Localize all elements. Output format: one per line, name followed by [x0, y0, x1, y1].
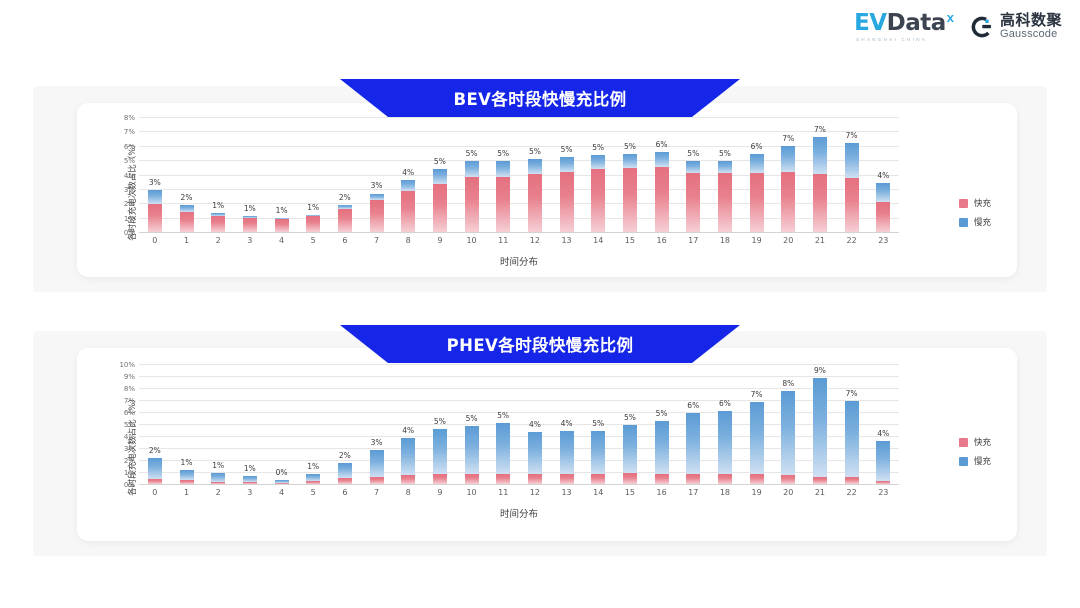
- bar-value-label: 2%: [149, 446, 161, 455]
- x-axis-tick: 14: [582, 236, 614, 245]
- bar-slot[interactable]: 5%: [551, 117, 583, 232]
- bar-value-label: 1%: [307, 203, 319, 212]
- stacked-bar[interactable]: [718, 411, 732, 484]
- x-axis-tick: 8: [392, 488, 424, 497]
- bar-segment-fast-charge[interactable]: [845, 477, 859, 484]
- stacked-bar[interactable]: [465, 161, 479, 232]
- evdata-logo: EV Data x SHANGHAI CHINA: [854, 12, 954, 42]
- bar-slot[interactable]: 3%: [139, 117, 171, 232]
- bar-segment-fast-charge[interactable]: [243, 218, 257, 232]
- bar-slot[interactable]: 5%: [614, 364, 646, 484]
- bar-value-label: 6%: [656, 140, 668, 149]
- bar-segment-fast-charge[interactable]: [306, 216, 320, 232]
- stacked-bar[interactable]: [876, 441, 890, 484]
- bar-value-label: 5%: [497, 149, 509, 158]
- bar-segment-fast-charge[interactable]: [718, 474, 732, 484]
- bar-segment-slow-charge[interactable]: [813, 378, 827, 477]
- legend-label: 慢充: [974, 455, 991, 467]
- x-axis: 01234567891011121314151617181920212223: [139, 236, 899, 245]
- stacked-bar[interactable]: [781, 391, 795, 484]
- legend-item[interactable]: 快充: [959, 436, 991, 448]
- bar-segment-fast-charge[interactable]: [655, 167, 669, 232]
- bar-slot[interactable]: 4%: [519, 364, 551, 484]
- bev-title-banner: BEV各时段快慢充比例: [340, 79, 740, 117]
- bar-segment-slow-charge[interactable]: [496, 161, 510, 177]
- bar-slot[interactable]: 4%: [551, 364, 583, 484]
- stacked-bar[interactable]: [370, 193, 384, 232]
- bar-segment-fast-charge[interactable]: [623, 473, 637, 484]
- stacked-bar[interactable]: [845, 143, 859, 232]
- bar-slot[interactable]: 4%: [867, 364, 899, 484]
- stacked-bar[interactable]: [211, 473, 225, 484]
- stacked-bar[interactable]: [148, 458, 162, 484]
- bev-plot-area: 0%1%2%3%4%5%6%7%8%3%2%1%1%1%1%2%3%4%5%5%…: [139, 117, 899, 232]
- stacked-bar[interactable]: [496, 423, 510, 484]
- stacked-bar[interactable]: [433, 169, 447, 232]
- bar-segment-slow-charge[interactable]: [370, 450, 384, 476]
- stacked-bar[interactable]: [781, 146, 795, 232]
- bar-slot[interactable]: 3%: [361, 117, 393, 232]
- gausscode-mark-icon: [970, 15, 994, 39]
- bar-segment-fast-charge[interactable]: [623, 168, 637, 232]
- x-axis-tick: 16: [646, 488, 678, 497]
- x-axis-tick: 16: [646, 236, 678, 245]
- bar-value-label: 5%: [592, 143, 604, 152]
- phev-legend: 快充慢充: [959, 436, 991, 467]
- bar-segment-slow-charge[interactable]: [465, 161, 479, 178]
- gausscode-logo: 高科数聚 Gausscode: [970, 13, 1062, 40]
- bar-value-label: 5%: [497, 411, 509, 420]
- bar-slot[interactable]: 0%: [266, 364, 298, 484]
- bar-segment-fast-charge[interactable]: [813, 174, 827, 232]
- bar-value-label: 5%: [624, 413, 636, 422]
- bar-segment-fast-charge[interactable]: [686, 173, 700, 232]
- bar-segment-slow-charge[interactable]: [560, 431, 574, 474]
- bar-segment-fast-charge[interactable]: [338, 209, 352, 232]
- stacked-bar[interactable]: [211, 213, 225, 232]
- legend-item[interactable]: 慢充: [959, 455, 991, 467]
- legend-label: 快充: [974, 197, 991, 209]
- legend-item[interactable]: 慢充: [959, 216, 991, 228]
- bar-value-label: 5%: [434, 417, 446, 426]
- bar-segment-slow-charge[interactable]: [591, 155, 605, 169]
- bar-segment-slow-charge[interactable]: [750, 154, 764, 173]
- bar-slot[interactable]: 5%: [677, 117, 709, 232]
- bar-segment-fast-charge[interactable]: [781, 172, 795, 232]
- bar-group: 2%1%1%1%0%1%2%3%4%5%5%5%4%4%5%5%5%6%6%7%…: [139, 364, 899, 484]
- bar-segment-fast-charge[interactable]: [528, 474, 542, 484]
- bar-value-label: 5%: [592, 419, 604, 428]
- bev-chart: 各时段充电次数占比（%） 0%1%2%3%4%5%6%7%8%3%2%1%1%1…: [77, 103, 1017, 277]
- bar-segment-slow-charge[interactable]: [148, 458, 162, 479]
- bar-segment-slow-charge[interactable]: [433, 169, 447, 183]
- bar-slot[interactable]: 5%: [582, 117, 614, 232]
- logo-group: EV Data x SHANGHAI CHINA 高科数聚 Gausscode: [854, 12, 1062, 42]
- bar-slot[interactable]: 6%: [709, 364, 741, 484]
- bev-banner-title: BEV各时段快慢充比例: [453, 86, 626, 110]
- stacked-bar[interactable]: [306, 474, 320, 484]
- stacked-bar[interactable]: [275, 480, 289, 484]
- bar-segment-fast-charge[interactable]: [686, 474, 700, 484]
- x-axis-tick: 23: [867, 488, 899, 497]
- bar-slot[interactable]: 4%: [867, 117, 899, 232]
- bar-segment-fast-charge[interactable]: [750, 474, 764, 484]
- bar-segment-fast-charge[interactable]: [813, 477, 827, 484]
- bar-value-label: 7%: [846, 131, 858, 140]
- y-axis-tick: 6%: [124, 143, 135, 151]
- bar-slot[interactable]: 1%: [234, 117, 266, 232]
- phev-chart: 各时段充电次数占比（%） 0%1%2%3%4%5%6%7%8%9%10%2%1%…: [77, 348, 1017, 541]
- bar-slot[interactable]: 2%: [329, 117, 361, 232]
- x-axis-tick: 0: [139, 488, 171, 497]
- bar-slot[interactable]: 8%: [772, 364, 804, 484]
- stacked-bar[interactable]: [306, 215, 320, 232]
- bar-slot[interactable]: 7%: [741, 364, 773, 484]
- bar-segment-fast-charge[interactable]: [370, 477, 384, 484]
- bar-segment-slow-charge[interactable]: [813, 137, 827, 174]
- bar-value-label: 7%: [782, 134, 794, 143]
- bar-slot[interactable]: 5%: [456, 117, 488, 232]
- x-axis-tick: 17: [677, 488, 709, 497]
- x-axis-tick: 9: [424, 236, 456, 245]
- bar-slot[interactable]: 5%: [614, 117, 646, 232]
- bar-slot[interactable]: 1%: [202, 364, 234, 484]
- x-axis-tick: 11: [487, 236, 519, 245]
- bar-value-label: 5%: [466, 149, 478, 158]
- bar-segment-slow-charge[interactable]: [750, 402, 764, 474]
- bar-slot[interactable]: 7%: [772, 117, 804, 232]
- x-axis-tick: 17: [677, 236, 709, 245]
- x-axis-tick: 19: [741, 236, 773, 245]
- bar-segment-slow-charge[interactable]: [370, 194, 384, 201]
- stacked-bar[interactable]: [560, 157, 574, 232]
- bar-value-label: 4%: [402, 168, 414, 177]
- x-axis-tick: 0: [139, 236, 171, 245]
- x-axis-tick: 22: [836, 236, 868, 245]
- bar-value-label: 5%: [561, 145, 573, 154]
- bar-segment-slow-charge[interactable]: [845, 143, 859, 178]
- bar-value-label: 1%: [181, 458, 193, 467]
- x-axis-tick: 12: [519, 236, 551, 245]
- y-axis-tick: 8%: [124, 114, 135, 122]
- gausscode-cn-text: 高科数聚: [1000, 13, 1062, 29]
- bar-segment-fast-charge[interactable]: [591, 474, 605, 484]
- x-axis-tick: 9: [424, 488, 456, 497]
- stacked-bar[interactable]: [148, 190, 162, 232]
- stacked-bar[interactable]: [591, 431, 605, 484]
- stacked-bar[interactable]: [655, 421, 669, 484]
- bar-value-label: 3%: [371, 438, 383, 447]
- bar-segment-slow-charge[interactable]: [338, 463, 352, 478]
- stacked-bar[interactable]: [718, 161, 732, 232]
- bar-slot[interactable]: 5%: [709, 117, 741, 232]
- x-axis-tick: 2: [202, 488, 234, 497]
- x-axis-tick: 4: [266, 236, 298, 245]
- x-axis-tick: 7: [361, 488, 393, 497]
- bar-segment-slow-charge[interactable]: [655, 152, 669, 168]
- bar-segment-slow-charge[interactable]: [686, 161, 700, 173]
- phev-banner-title: PHEV各时段快慢充比例: [447, 332, 634, 356]
- phev-chart-card: 各时段充电次数占比（%） 0%1%2%3%4%5%6%7%8%9%10%2%1%…: [77, 348, 1017, 541]
- bar-slot[interactable]: 1%: [297, 364, 329, 484]
- bar-segment-fast-charge[interactable]: [465, 474, 479, 484]
- slide-page: EV Data x SHANGHAI CHINA 高科数聚 Gausscode: [0, 0, 1080, 608]
- bar-slot[interactable]: 6%: [677, 364, 709, 484]
- bar-value-label: 5%: [434, 157, 446, 166]
- bar-slot[interactable]: 7%: [836, 364, 868, 484]
- stacked-bar[interactable]: [750, 154, 764, 232]
- x-axis-tick: 20: [772, 236, 804, 245]
- bar-slot[interactable]: 5%: [456, 364, 488, 484]
- y-axis-tick: 5%: [124, 421, 135, 429]
- stacked-bar[interactable]: [465, 426, 479, 484]
- stacked-bar[interactable]: [813, 378, 827, 484]
- bar-value-label: 5%: [466, 414, 478, 423]
- bar-slot[interactable]: 5%: [424, 117, 456, 232]
- bar-segment-slow-charge[interactable]: [718, 161, 732, 173]
- bar-segment-slow-charge[interactable]: [148, 190, 162, 204]
- bar-segment-fast-charge[interactable]: [433, 184, 447, 232]
- bar-segment-slow-charge[interactable]: [528, 159, 542, 173]
- bar-segment-slow-charge[interactable]: [401, 438, 415, 476]
- x-axis-tick: 14: [582, 488, 614, 497]
- bar-segment-fast-charge[interactable]: [496, 474, 510, 484]
- bar-segment-slow-charge[interactable]: [781, 146, 795, 171]
- stacked-bar[interactable]: [180, 470, 194, 484]
- x-axis-tick: 21: [804, 236, 836, 245]
- y-axis-tick: 6%: [124, 409, 135, 417]
- bar-segment-fast-charge[interactable]: [243, 482, 257, 484]
- stacked-bar[interactable]: [623, 425, 637, 484]
- stacked-bar[interactable]: [686, 161, 700, 232]
- bar-segment-fast-charge[interactable]: [433, 474, 447, 484]
- bar-slot[interactable]: 4%: [392, 117, 424, 232]
- bar-segment-fast-charge[interactable]: [275, 483, 289, 484]
- stacked-bar[interactable]: [528, 432, 542, 484]
- bar-segment-slow-charge[interactable]: [781, 391, 795, 475]
- x-axis-tick: 3: [234, 488, 266, 497]
- bar-segment-fast-charge[interactable]: [401, 191, 415, 232]
- stacked-bar[interactable]: [275, 218, 289, 232]
- phev-panel: 各时段充电次数占比（%） 0%1%2%3%4%5%6%7%8%9%10%2%1%…: [33, 331, 1047, 556]
- bar-value-label: 4%: [402, 426, 414, 435]
- bar-segment-slow-charge[interactable]: [560, 157, 574, 172]
- bar-segment-slow-charge[interactable]: [528, 432, 542, 475]
- stacked-bar[interactable]: [243, 216, 257, 232]
- bar-segment-slow-charge[interactable]: [655, 421, 669, 474]
- bar-segment-fast-charge[interactable]: [180, 212, 194, 232]
- bar-segment-fast-charge[interactable]: [148, 204, 162, 232]
- bar-segment-slow-charge[interactable]: [623, 425, 637, 474]
- stacked-bar[interactable]: [338, 463, 352, 484]
- bar-slot[interactable]: 2%: [171, 117, 203, 232]
- x-axis: 01234567891011121314151617181920212223: [139, 488, 899, 497]
- bar-value-label: 2%: [339, 451, 351, 460]
- bar-segment-fast-charge[interactable]: [370, 200, 384, 232]
- bar-segment-fast-charge[interactable]: [306, 481, 320, 484]
- evdata-tagline: SHANGHAI CHINA: [856, 37, 927, 42]
- legend-swatch: [959, 199, 968, 208]
- bar-value-label: 2%: [181, 193, 193, 202]
- stacked-bar[interactable]: [655, 152, 669, 233]
- x-axis-tick: 15: [614, 488, 646, 497]
- bar-segment-slow-charge[interactable]: [876, 183, 890, 202]
- y-axis-tick: 4%: [124, 172, 135, 180]
- y-axis-tick: 7%: [124, 128, 135, 136]
- bar-value-label: 1%: [212, 201, 224, 210]
- bar-value-label: 6%: [719, 399, 731, 408]
- bar-segment-slow-charge[interactable]: [718, 411, 732, 474]
- stacked-bar[interactable]: [338, 205, 352, 232]
- gausscode-en-text: Gausscode: [1000, 29, 1062, 41]
- bar-segment-fast-charge[interactable]: [750, 173, 764, 232]
- x-axis-tick: 22: [836, 488, 868, 497]
- bar-slot[interactable]: 4%: [392, 364, 424, 484]
- stacked-bar[interactable]: [813, 137, 827, 232]
- bar-slot[interactable]: 9%: [804, 364, 836, 484]
- bar-segment-slow-charge[interactable]: [496, 423, 510, 474]
- bar-slot[interactable]: 2%: [139, 364, 171, 484]
- x-axis-tick: 1: [171, 236, 203, 245]
- stacked-bar[interactable]: [876, 183, 890, 232]
- bar-value-label: 1%: [244, 204, 256, 213]
- legend-item[interactable]: 快充: [959, 197, 991, 209]
- bar-value-label: 5%: [656, 409, 668, 418]
- stacked-bar[interactable]: [528, 159, 542, 232]
- bar-segment-fast-charge[interactable]: [781, 475, 795, 484]
- bar-segment-slow-charge[interactable]: [591, 431, 605, 475]
- bar-value-label: 5%: [687, 149, 699, 158]
- stacked-bar[interactable]: [750, 402, 764, 484]
- legend-label: 快充: [974, 436, 991, 448]
- bar-value-label: 5%: [529, 147, 541, 156]
- bar-segment-slow-charge[interactable]: [876, 441, 890, 481]
- legend-swatch: [959, 438, 968, 447]
- x-axis-tick: 5: [297, 236, 329, 245]
- bar-segment-slow-charge[interactable]: [623, 154, 637, 168]
- bar-segment-fast-charge[interactable]: [560, 172, 574, 232]
- bar-slot[interactable]: 1%: [266, 117, 298, 232]
- y-axis-tick: 7%: [124, 397, 135, 405]
- bar-slot[interactable]: 1%: [202, 117, 234, 232]
- stacked-bar[interactable]: [401, 180, 415, 232]
- bar-slot[interactable]: 5%: [582, 364, 614, 484]
- legend-swatch: [959, 218, 968, 227]
- y-axis-tick: 9%: [124, 373, 135, 381]
- bar-segment-fast-charge[interactable]: [338, 478, 352, 484]
- bar-segment-slow-charge[interactable]: [180, 470, 194, 481]
- bar-segment-fast-charge[interactable]: [401, 475, 415, 484]
- stacked-bar[interactable]: [496, 161, 510, 232]
- stacked-bar[interactable]: [401, 438, 415, 484]
- bar-segment-fast-charge[interactable]: [718, 173, 732, 232]
- evdata-x-icon: x: [947, 10, 954, 25]
- stacked-bar[interactable]: [623, 154, 637, 232]
- bar-segment-slow-charge[interactable]: [433, 429, 447, 474]
- bar-segment-slow-charge[interactable]: [306, 474, 320, 482]
- y-axis-tick: 0%: [124, 481, 135, 489]
- evdata-logo-main: EV Data x: [854, 12, 954, 35]
- bar-segment-fast-charge[interactable]: [465, 177, 479, 232]
- bar-slot[interactable]: 5%: [487, 364, 519, 484]
- bar-segment-fast-charge[interactable]: [655, 474, 669, 484]
- x-axis-tick: 13: [551, 488, 583, 497]
- x-axis-tick: 8: [392, 236, 424, 245]
- bar-slot[interactable]: 1%: [171, 364, 203, 484]
- bar-segment-slow-charge[interactable]: [211, 473, 225, 481]
- bar-value-label: 7%: [751, 390, 763, 399]
- legend-swatch: [959, 457, 968, 466]
- bar-value-label: 1%: [212, 461, 224, 470]
- bar-segment-fast-charge[interactable]: [528, 174, 542, 232]
- bar-slot[interactable]: 3%: [361, 364, 393, 484]
- bar-value-label: 1%: [244, 464, 256, 473]
- evdata-data-text: Data: [887, 12, 946, 35]
- bar-segment-fast-charge[interactable]: [876, 202, 890, 232]
- x-axis-tick: 18: [709, 488, 741, 497]
- bar-segment-fast-charge[interactable]: [876, 481, 890, 484]
- x-axis-tick: 4: [266, 488, 298, 497]
- x-axis-tick: 15: [614, 236, 646, 245]
- bar-segment-fast-charge[interactable]: [845, 178, 859, 232]
- stacked-bar[interactable]: [370, 450, 384, 484]
- bar-value-label: 8%: [782, 379, 794, 388]
- bar-segment-fast-charge[interactable]: [211, 482, 225, 484]
- x-axis-tick: 19: [741, 488, 773, 497]
- bar-segment-fast-charge[interactable]: [211, 216, 225, 232]
- bar-segment-slow-charge[interactable]: [845, 401, 859, 477]
- bar-slot[interactable]: 2%: [329, 364, 361, 484]
- bar-slot[interactable]: 5%: [519, 117, 551, 232]
- bar-slot[interactable]: 6%: [741, 117, 773, 232]
- bar-slot[interactable]: 5%: [487, 117, 519, 232]
- bar-segment-fast-charge[interactable]: [560, 474, 574, 484]
- bar-segment-fast-charge[interactable]: [496, 177, 510, 232]
- bar-segment-fast-charge[interactable]: [275, 219, 289, 232]
- bar-group: 3%2%1%1%1%1%2%3%4%5%5%5%5%5%5%5%6%5%5%6%…: [139, 117, 899, 232]
- bar-slot[interactable]: 1%: [297, 117, 329, 232]
- bar-value-label: 6%: [687, 401, 699, 410]
- bar-slot[interactable]: 5%: [646, 364, 678, 484]
- x-axis-tick: 6: [329, 236, 361, 245]
- stacked-bar[interactable]: [845, 401, 859, 484]
- bar-segment-fast-charge[interactable]: [148, 479, 162, 484]
- y-axis-tick: 3%: [124, 186, 135, 194]
- bar-segment-slow-charge[interactable]: [401, 180, 415, 192]
- bar-slot[interactable]: 1%: [234, 364, 266, 484]
- stacked-bar[interactable]: [686, 413, 700, 484]
- bar-slot[interactable]: 7%: [804, 117, 836, 232]
- bar-segment-fast-charge[interactable]: [180, 480, 194, 484]
- bar-slot[interactable]: 7%: [836, 117, 868, 232]
- y-axis-tick: 2%: [124, 200, 135, 208]
- bar-segment-slow-charge[interactable]: [465, 426, 479, 474]
- stacked-bar[interactable]: [591, 155, 605, 232]
- x-axis-tick: 13: [551, 236, 583, 245]
- page-header: EV Data x SHANGHAI CHINA 高科数聚 Gausscode: [0, 0, 1080, 62]
- bar-slot[interactable]: 6%: [646, 117, 678, 232]
- bar-segment-slow-charge[interactable]: [686, 413, 700, 474]
- stacked-bar[interactable]: [180, 205, 194, 232]
- bar-segment-slow-charge[interactable]: [243, 476, 257, 483]
- stacked-bar[interactable]: [433, 429, 447, 484]
- bar-segment-fast-charge[interactable]: [591, 169, 605, 232]
- x-axis-tick: 6: [329, 488, 361, 497]
- stacked-bar[interactable]: [560, 431, 574, 484]
- bar-value-label: 7%: [814, 125, 826, 134]
- bar-slot[interactable]: 5%: [424, 364, 456, 484]
- stacked-bar[interactable]: [243, 476, 257, 484]
